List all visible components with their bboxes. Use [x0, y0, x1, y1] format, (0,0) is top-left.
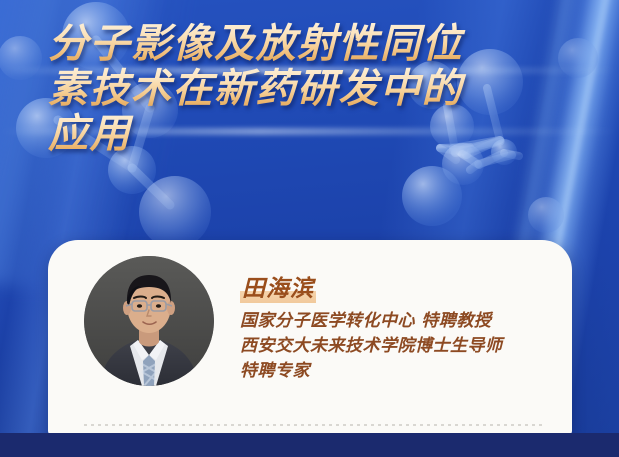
speaker-credentials: 国家分子医学转化中心 特聘教授 西安交大未来技术学院博士生导师 特聘专家 — [240, 309, 503, 384]
speaker-credential-2: 西安交大未来技术学院博士生导师 — [240, 334, 503, 359]
title-line-1: 分子影像及放射性同位 — [48, 22, 578, 67]
card-dotted-divider — [84, 424, 544, 426]
bottom-strip — [0, 433, 619, 457]
presentation-poster: 分子影像及放射性同位 素技术在新药研发中的 应用 — [0, 0, 619, 457]
speaker-name: 田海滨 — [240, 276, 316, 303]
title-line-3: 应用 — [48, 112, 578, 157]
page-title: 分子影像及放射性同位 素技术在新药研发中的 应用 — [48, 22, 578, 157]
speaker-info: 田海滨 国家分子医学转化中心 特聘教授 西安交大未来技术学院博士生导师 特聘专家 — [240, 256, 503, 384]
title-line-2: 素技术在新药研发中的 — [48, 67, 578, 112]
speaker-credential-3: 特聘专家 — [240, 359, 503, 384]
speaker-card: 田海滨 国家分子医学转化中心 特聘教授 西安交大未来技术学院博士生导师 特聘专家 — [48, 240, 572, 435]
speaker-credential-1: 国家分子医学转化中心 特聘教授 — [240, 309, 503, 334]
avatar — [84, 256, 214, 386]
